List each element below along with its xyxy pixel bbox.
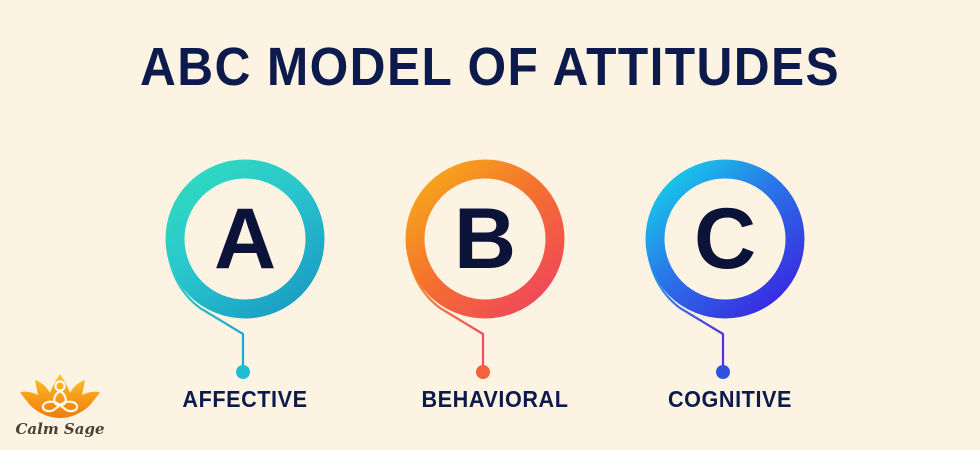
ring-letter-b: B [405,196,565,282]
connector-dot-affective [236,365,250,379]
brand-logo[interactable]: Calm Sage [8,372,112,446]
lotus-meditation-icon [18,372,102,422]
label-cognitive[interactable]: COGNITIVE [589,386,871,412]
brand-name: Calm Sage [8,420,112,438]
connector-dot-behavioral [476,365,490,379]
connector-dot-cognitive [716,365,730,379]
ring-letter-c: C [645,196,805,282]
infographic-canvas: ABC MODEL OF ATTITUDES [0,0,980,450]
label-affective[interactable]: AFFECTIVE [104,386,386,412]
ring-letter-a: A [165,196,325,282]
